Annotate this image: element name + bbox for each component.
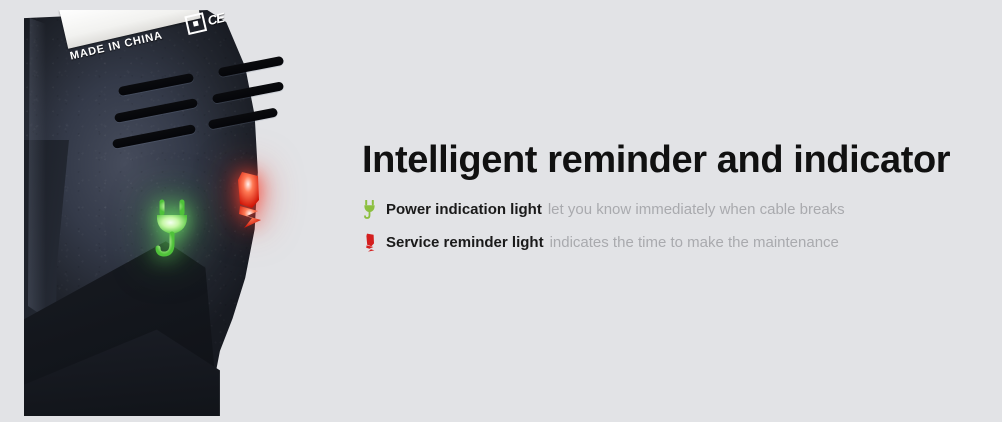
plug-icon	[152, 198, 198, 260]
ce-mark-icon: CE	[206, 10, 225, 28]
content-panel: Intelligent reminder and indicator Power…	[362, 140, 992, 266]
feature-description: indicates the time to make the maintenan…	[550, 234, 839, 251]
service-indicator-led	[228, 170, 270, 236]
list-item: Power indication light let you know imme…	[362, 200, 992, 220]
feature-title: Service reminder light	[386, 234, 544, 251]
feature-list: Power indication light let you know imme…	[362, 200, 992, 253]
plug-icon	[362, 200, 377, 220]
page-title: Intelligent reminder and indicator	[362, 140, 992, 182]
tool-edge-highlight	[28, 18, 46, 318]
product-photo: MADE IN CHINA CE	[24, 10, 340, 416]
service-light-icon	[362, 233, 377, 253]
product-feature-banner: MADE IN CHINA CE	[0, 0, 1002, 422]
list-item: Service reminder light indicates the tim…	[362, 233, 992, 253]
service-light-icon	[228, 170, 270, 236]
power-indicator-led	[152, 198, 198, 260]
feature-description: let you know immediately when cable brea…	[548, 201, 845, 218]
feature-title: Power indication light	[386, 201, 542, 218]
